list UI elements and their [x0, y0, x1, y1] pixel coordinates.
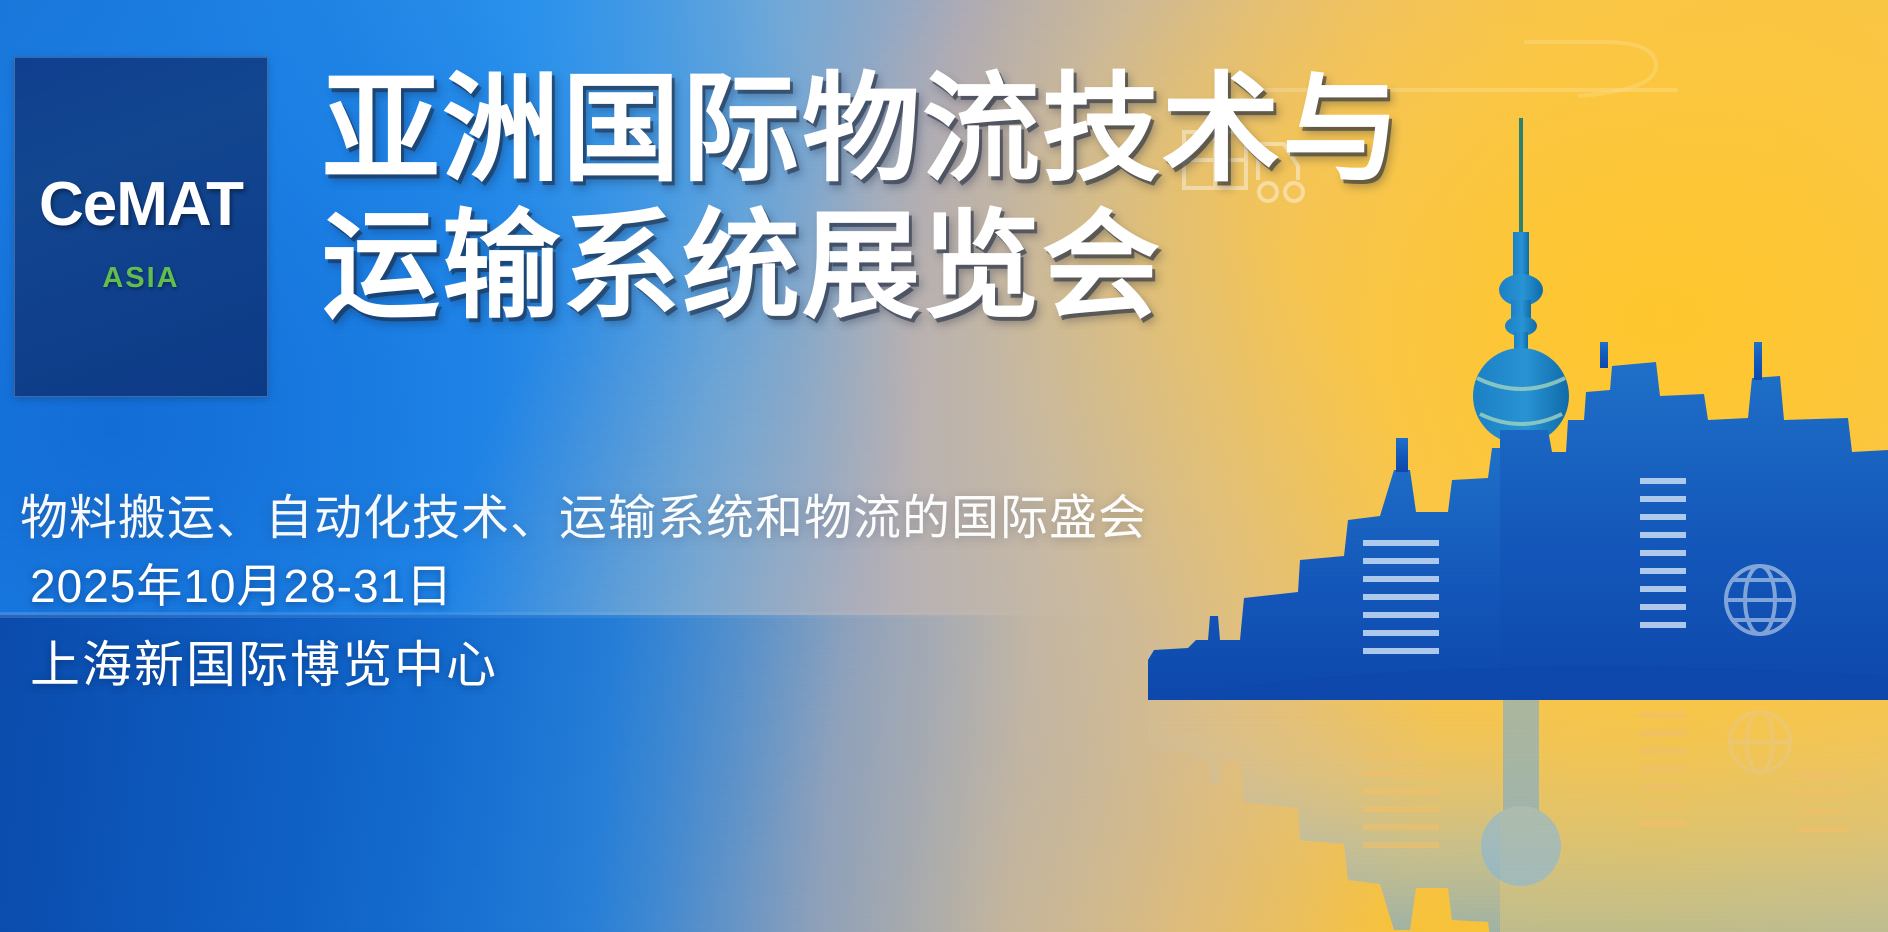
- logo-region-text: ASIA: [102, 262, 179, 295]
- logo-brand-text: CeMAT: [39, 174, 243, 236]
- headline-line-2: 运输系统展览会: [322, 199, 1382, 336]
- headline-line-1: 亚洲国际物流技术与: [322, 62, 1382, 199]
- headline: 亚洲国际物流技术与 运输系统展览会: [322, 62, 1382, 336]
- event-date: 2025年10月28-31日: [30, 550, 453, 616]
- cemat-asia-banner: CeMAT ASIA 亚洲国际物流技术与 运输系统展览会 物料搬运、自动化技术、…: [0, 0, 1888, 932]
- event-venue: 上海新国际博览中心: [30, 625, 498, 697]
- cemat-logo: CeMAT ASIA: [14, 57, 268, 397]
- subtitle: 物料搬运、自动化技术、运输系统和物流的国际盛会: [20, 478, 1147, 548]
